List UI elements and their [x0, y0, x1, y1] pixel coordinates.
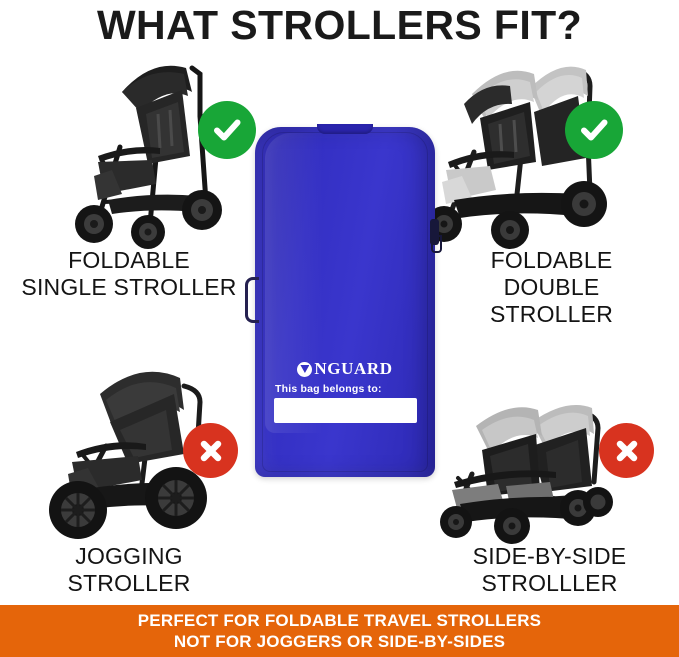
check-icon	[576, 112, 612, 148]
verdict-badge-double	[565, 101, 623, 159]
banner-line-2: NOT FOR JOGGERS OR SIDE-BY-SIDES	[174, 631, 505, 652]
bag-carry-handle	[245, 277, 259, 323]
travel-bag-product: NGUARD This bag belongs to:	[255, 127, 435, 477]
shield-logo-icon	[297, 362, 312, 377]
verdict-badge-single	[198, 101, 256, 159]
check-icon	[209, 112, 245, 148]
owner-write-on-field[interactable]	[274, 398, 417, 423]
verdict-badge-jogging	[183, 423, 238, 478]
bottom-banner: PERFECT FOR FOLDABLE TRAVEL STROLLERS NO…	[0, 605, 679, 657]
infographic-root: WHAT STROLLERS FIT?	[0, 0, 679, 657]
page-title: WHAT STROLLERS FIT?	[0, 2, 679, 49]
stroller-image-single	[60, 52, 230, 252]
zipper-pull-icon	[430, 219, 439, 245]
stroller-image-side-by-side	[428, 398, 618, 548]
caption-side-by-side-stroller: SIDE-BY-SIDE STROLLLER	[420, 543, 679, 597]
verdict-badge-side-by-side	[599, 423, 654, 478]
caption-foldable-single-stroller: FOLDABLE SINGLE STROLLER	[0, 247, 258, 301]
brand-lockup: NGUARD	[255, 359, 435, 379]
x-icon	[195, 435, 227, 467]
x-icon	[611, 435, 643, 467]
caption-jogging-stroller: JOGGING STROLLER	[0, 543, 258, 597]
bag-top-flap	[317, 124, 373, 134]
caption-foldable-double-stroller: FOLDABLE DOUBLE STROLLER	[424, 247, 679, 328]
owner-label: This bag belongs to:	[275, 383, 382, 395]
banner-line-1: PERFECT FOR FOLDABLE TRAVEL STROLLERS	[138, 610, 541, 631]
bag-body	[255, 127, 435, 477]
brand-name: NGUARD	[314, 359, 392, 379]
